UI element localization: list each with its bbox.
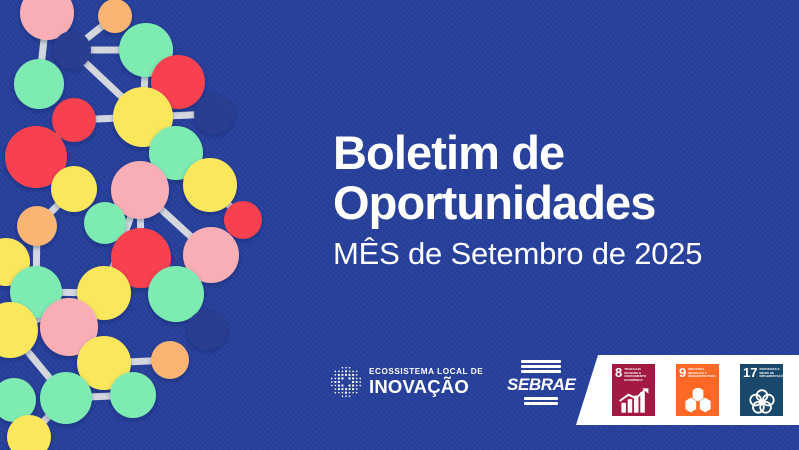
logo-row: ECOSSISTEMA LOCAL DE INOVAÇÃO SEBRAE (330, 365, 575, 399)
sebrae-wordmark: SEBRAE (507, 375, 575, 395)
sdg-header: 17PARCERIAS E MEIOS DE IMPLEMENTAÇÃO (740, 364, 783, 379)
sebrae-top-bars (521, 360, 561, 373)
network-node (98, 0, 132, 33)
innovation-node-network (0, 0, 300, 450)
sdg-artwork (676, 387, 719, 414)
network-node (53, 31, 91, 69)
sdg-icon-row: 8TRABALHO DECENTE E CRESCIMENTO ECONÔMIC… (612, 364, 783, 416)
page-title-line-1: Boletim de (333, 128, 763, 178)
sdg-number: 8 (615, 367, 622, 378)
network-node (110, 372, 156, 418)
page-subtitle: MÊS de Setembro de 2025 (333, 234, 763, 274)
sdg-tile-8[interactable]: 8TRABALHO DECENTE E CRESCIMENTO ECONÔMIC… (612, 364, 655, 416)
network-node (17, 206, 57, 246)
sdg-number: 9 (679, 367, 686, 378)
ecossistema-inovacao-logo: ECOSSISTEMA LOCAL DE INOVAÇÃO (330, 366, 483, 398)
sebrae-bottom-bars (524, 397, 558, 405)
network-node (51, 166, 97, 212)
headline-block: Boletim de Oportunidades MÊS de Setembro… (333, 128, 763, 274)
growth-chart-arrow-icon (616, 388, 652, 414)
network-node (183, 158, 237, 212)
sdg-tile-9[interactable]: 9INDÚSTRIA, INOVAÇÃO E INFRAESTRUTURA (676, 364, 719, 416)
page-title-line-2: Oportunidades (333, 178, 763, 228)
sdg-number: 17 (743, 367, 757, 378)
sebrae-logo: SEBRAE (507, 365, 575, 399)
network-node (187, 310, 227, 350)
sdg-artwork (612, 387, 655, 414)
sdg-tile-17[interactable]: 17PARCERIAS E MEIOS DE IMPLEMENTAÇÃO (740, 364, 783, 416)
network-node (224, 201, 262, 239)
cubes-stack-icon (680, 388, 716, 414)
ecossistema-logo-line-2: INOVAÇÃO (369, 378, 483, 397)
network-node (40, 372, 92, 424)
interlocking-circles-icon (744, 388, 780, 414)
sdg-label: TRABALHO DECENTE E CRESCIMENTO ECONÔMICO (624, 367, 652, 382)
network-node (14, 59, 64, 109)
network-node (194, 94, 234, 134)
dot-matrix-circle-mark (330, 366, 362, 398)
sdg-label: INDÚSTRIA, INOVAÇÃO E INFRAESTRUTURA (688, 367, 716, 379)
sdg-panel: 8TRABALHO DECENTE E CRESCIMENTO ECONÔMIC… (576, 355, 799, 425)
network-node (52, 98, 96, 142)
sdg-label: PARCERIAS E MEIOS DE IMPLEMENTAÇÃO (759, 367, 783, 379)
sdg-artwork (740, 387, 783, 414)
sdg-header: 9INDÚSTRIA, INOVAÇÃO E INFRAESTRUTURA (676, 364, 719, 379)
boletim-banner: Boletim de Oportunidades MÊS de Setembro… (0, 0, 799, 450)
ecossistema-logo-line-1: ECOSSISTEMA LOCAL DE (369, 368, 483, 376)
network-node (151, 341, 189, 379)
sdg-header: 8TRABALHO DECENTE E CRESCIMENTO ECONÔMIC… (612, 364, 655, 382)
